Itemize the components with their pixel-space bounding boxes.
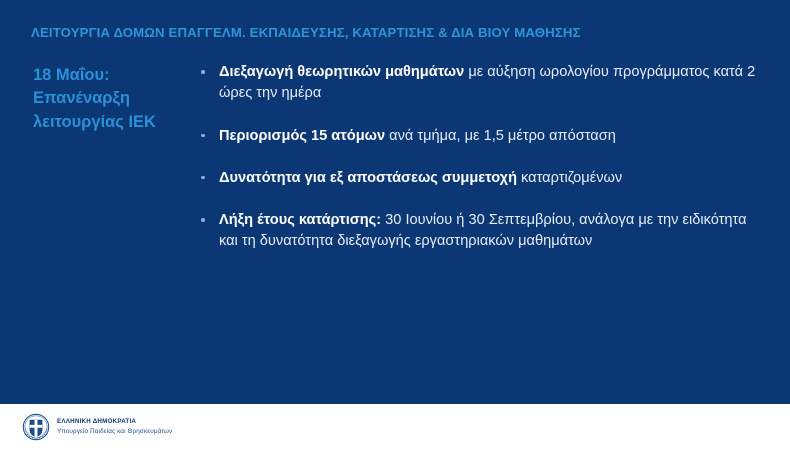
bullet-dot-icon [201,134,205,138]
bullet-rest-text: ανά τμήμα, με 1,5 μέτρο απόσταση [385,128,616,144]
bullet-dot-icon [201,218,205,222]
list-item: Διεξαγωγή θεωρητικών μαθημάτων με αύξηση… [197,62,767,105]
bullet-strong-text: Περιορισμός 15 ατόμων [219,128,385,144]
footer-text-block: ΕΛΛΗΝΙΚΗ ΔΗΜΟΚΡΑΤΙΑ Υπουργείο Παιδείας κ… [57,418,172,435]
bullet-dot-icon [201,70,205,74]
footer-ministry: Υπουργείο Παιδείας και Θρησκευμάτων [57,428,172,436]
list-item: Δυνατότητα για εξ αποστάσεως συμμετοχή κ… [197,168,767,189]
list-item: Περιορισμός 15 ατόμων ανά τμήμα, με 1,5 … [197,126,767,147]
slide-side-heading: 18 Μαΐου: Επανέναρξη λειτουργίας ΙΕΚ [33,64,183,134]
slide-title: ΛΕΙΤΟΥΡΓΙΑ ΔΟΜΩΝ ΕΠΑΓΓΕΛΜ. ΕΚΠΑΙΔΕΥΣΗΣ, … [31,25,761,41]
bullet-list: Διεξαγωγή θεωρητικών μαθημάτων με αύξηση… [197,62,767,253]
greek-coat-of-arms-icon [22,413,50,441]
bullet-strong-text: Λήξη έτους κατάρτισης: [219,212,381,228]
bullet-strong-text: Διεξαγωγή θεωρητικών μαθημάτων [219,64,464,80]
footer-branding: ΕΛΛΗΝΙΚΗ ΔΗΜΟΚΡΑΤΙΑ Υπουργείο Παιδείας κ… [22,413,172,441]
slide-root: ΛΕΙΤΟΥΡΓΙΑ ΔΟΜΩΝ ΕΠΑΓΓΕΛΜ. ΕΚΠΑΙΔΕΥΣΗΣ, … [0,0,790,450]
footer-organization: ΕΛΛΗΝΙΚΗ ΔΗΜΟΚΡΑΤΙΑ [57,418,172,426]
bullet-dot-icon [201,176,205,180]
bullet-strong-text: Δυνατότητα για εξ αποστάσεως συμμετοχή [219,170,517,186]
slide-footer: ΕΛΛΗΝΙΚΗ ΔΗΜΟΚΡΑΤΙΑ Υπουργείο Παιδείας κ… [0,404,790,450]
bullet-rest-text: καταρτιζομένων [517,170,622,186]
list-item: Λήξη έτους κατάρτισης: 30 Ιουνίου ή 30 Σ… [197,210,767,253]
